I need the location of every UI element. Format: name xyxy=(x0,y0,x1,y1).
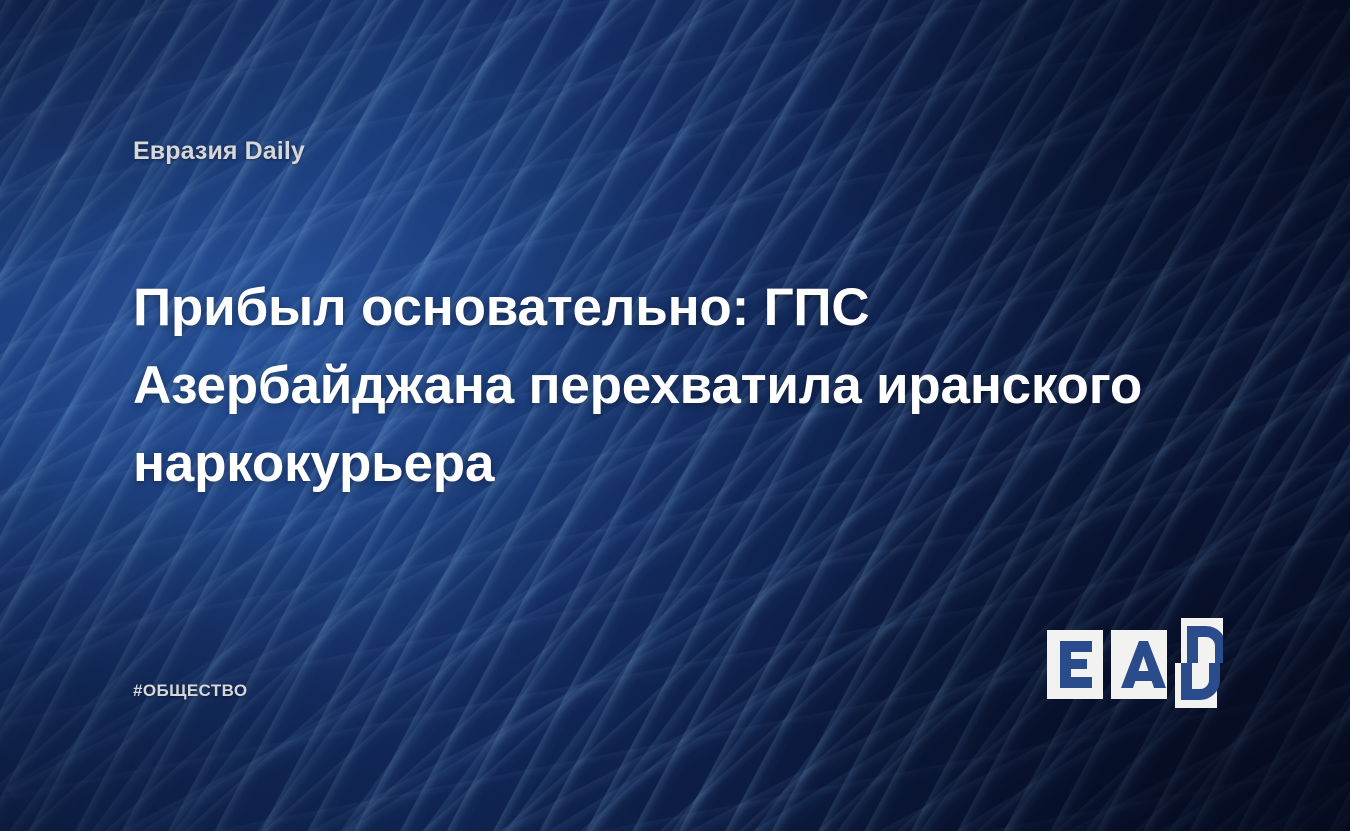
category-tag[interactable]: #ОБЩЕСТВО xyxy=(133,681,247,701)
site-name: Евразия Daily xyxy=(133,137,305,166)
news-card: Евразия Daily Прибыл основательно: ГПС А… xyxy=(0,0,1350,831)
page-title: Прибыл основательно: ГПС Азербайджана пе… xyxy=(133,269,1193,503)
ead-logo[interactable] xyxy=(1047,618,1223,708)
card-content: Евразия Daily Прибыл основательно: ГПС А… xyxy=(0,0,1350,831)
